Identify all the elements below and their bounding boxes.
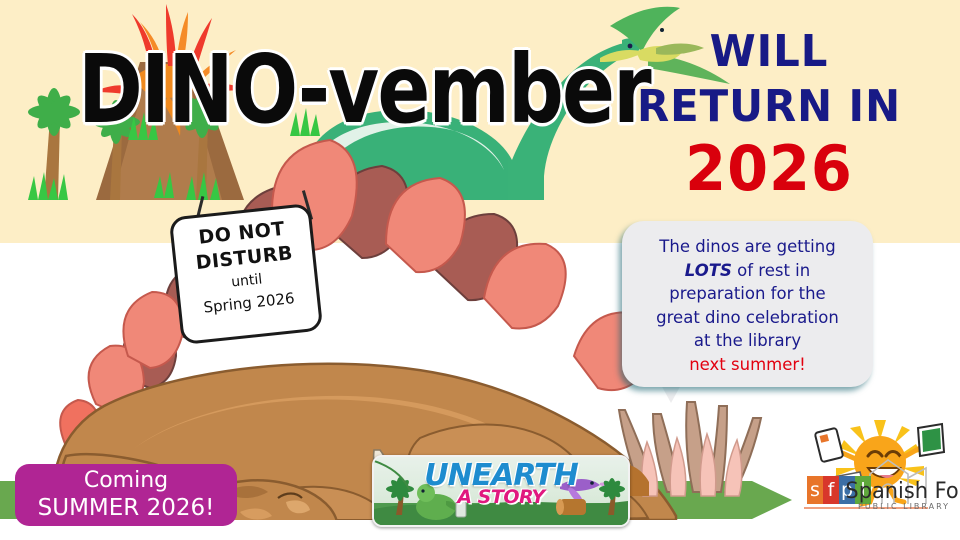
- bubble-line-3: preparation for the: [669, 284, 825, 303]
- library-logo: s f p l Spanish Fort PUBLIC LIBRARY: [800, 418, 960, 536]
- sign-text: DO NOT DISTURB until Spring 2026: [172, 206, 318, 321]
- bubble-line-6: next summer!: [689, 355, 806, 374]
- speech-bubble-text: The dinos are getting LOTS of rest in pr…: [622, 221, 873, 376]
- bubble-line-5: at the library: [694, 331, 801, 350]
- book-icon: [918, 424, 944, 456]
- library-name: Spanish Fort: [845, 480, 960, 504]
- bubble-line-2-rest: of rest in: [732, 261, 810, 280]
- headline-line-1: WILL: [588, 24, 951, 80]
- bubble-lots-emphasis: LOTS: [685, 261, 732, 280]
- unearth-a-story-banner: UNEARTH A STORY: [372, 455, 630, 527]
- poster-title: DINO-vember: [78, 36, 578, 136]
- tail-spikes-svg: [615, 392, 775, 522]
- poster-title-text: DINO-vember: [78, 36, 543, 144]
- headline-block: WILL RETURN IN 2026: [578, 24, 960, 204]
- banner-subtitle: A STORY: [374, 487, 628, 507]
- bubble-line-4: great dino celebration: [656, 308, 839, 327]
- tail-spikes: [615, 392, 775, 522]
- bubble-line-1: The dinos are getting: [659, 237, 835, 256]
- sfpl-letter-f: f: [823, 476, 839, 504]
- speech-bubble: The dinos are getting LOTS of rest in pr…: [622, 221, 873, 387]
- library-tagline: PUBLIC LIBRARY: [858, 502, 950, 511]
- headline-line-3: 2026: [588, 134, 951, 204]
- do-not-disturb-sign: DO NOT DISTURB until Spring 2026: [169, 203, 324, 345]
- coming-summer-badge: Coming SUMMER 2026!: [15, 464, 237, 526]
- badge-line-2: SUMMER 2026!: [38, 494, 215, 522]
- badge-line-1: Coming: [84, 468, 168, 494]
- headline-line-2: RETURN IN: [588, 80, 951, 134]
- tablet-icon: [815, 428, 844, 462]
- sfpl-letter-s: s: [807, 476, 823, 504]
- poster-canvas: DINO-vember WILL RETURN IN 2026 DO NOT D…: [0, 0, 960, 540]
